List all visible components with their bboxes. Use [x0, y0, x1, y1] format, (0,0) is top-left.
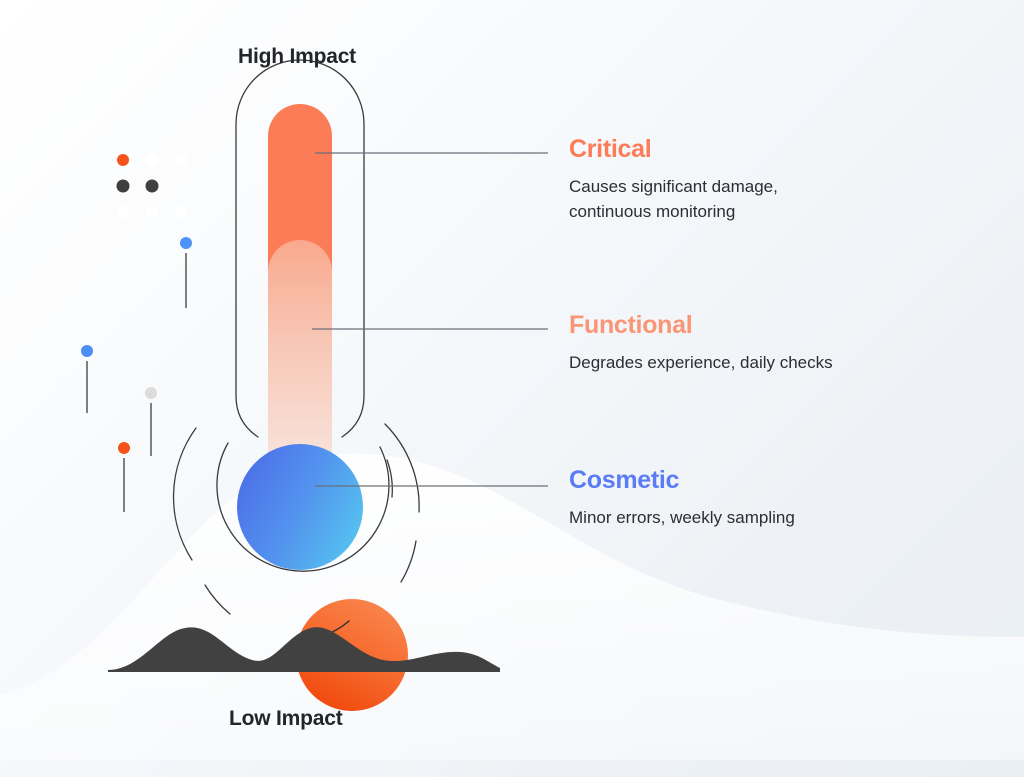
hill-silhouette [108, 627, 500, 672]
pin-orange [118, 442, 130, 512]
pin-gray [145, 387, 157, 456]
legend-title-functional: Functional [569, 310, 969, 340]
leader-lines [312, 153, 548, 486]
legend-description-critical-line-1: Causes significant damage, [569, 174, 899, 199]
legend-description-cosmetic: Minor errors, weekly sampling [569, 505, 899, 530]
legend-title-critical: Critical [569, 134, 969, 164]
decor-pins [81, 237, 192, 512]
thermometer-outline [236, 60, 364, 437]
scale-label-low: Low Impact [229, 707, 343, 731]
diagram-artwork [0, 0, 1024, 777]
legend-title-cosmetic: Cosmetic [569, 465, 969, 495]
scale-label-high: High Impact [238, 45, 356, 69]
bulb-rings [174, 424, 420, 614]
legend-item-cosmetic: Cosmetic Minor errors, weekly sampling [569, 465, 969, 530]
legend-item-critical: Critical Causes significant damage, cont… [569, 134, 969, 224]
setting-sun [296, 599, 408, 711]
thermometer-bulb [237, 444, 363, 570]
pin-blue-left [81, 345, 93, 413]
legend-description-functional: Degrades experience, daily checks [569, 350, 899, 375]
legend-description-functional-line-1: Degrades experience, daily checks [569, 350, 899, 375]
legend-description-cosmetic-line-1: Minor errors, weekly sampling [569, 505, 899, 530]
legend-description-critical-line-2: continuous monitoring [569, 199, 899, 224]
infographic-canvas: High Impact Low Impact Critical Causes s… [0, 0, 1024, 777]
decor-dot-grid [117, 154, 188, 218]
legend-item-functional: Functional Degrades experience, daily ch… [569, 310, 969, 375]
legend-description-critical: Causes significant damage, continuous mo… [569, 174, 899, 224]
thermometer-fill [268, 104, 332, 468]
pin-blue-upper [180, 237, 192, 308]
